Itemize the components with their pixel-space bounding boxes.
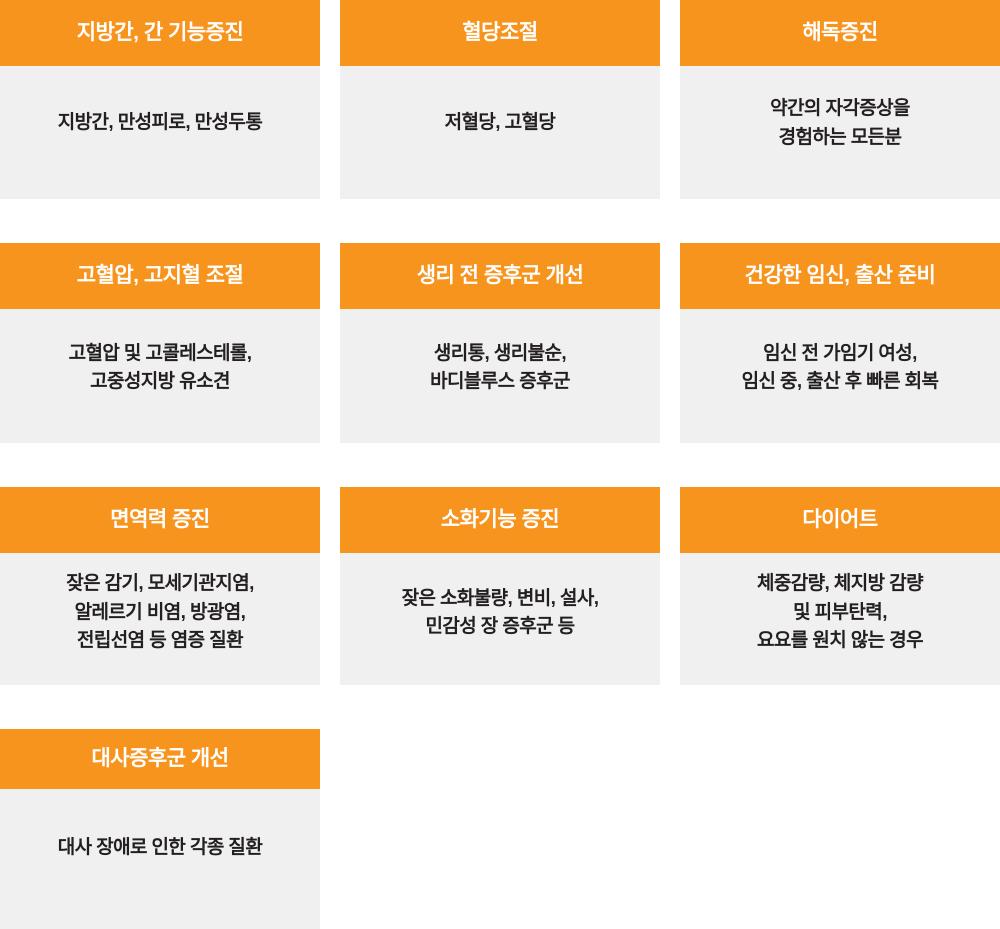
benefit-card-title: 혈당조절 <box>340 0 660 66</box>
benefit-card-body-text: 체중감량, 체지방 감량 및 피부탄력, 요요를 원치 않는 경우 <box>690 570 990 656</box>
benefit-card[interactable]: 다이어트 체중감량, 체지방 감량 및 피부탄력, 요요를 원치 않는 경우 <box>680 487 1000 685</box>
benefit-card-body: 대사 장애로 인한 각종 질환 <box>0 789 320 929</box>
benefit-card-body-text: 잦은 소화불량, 변비, 설사, 민감성 장 증후군 등 <box>350 585 650 642</box>
benefit-card[interactable]: 지방간, 간 기능증진 지방간, 만성피로, 만성두통 <box>0 0 320 199</box>
grid-empty-cell <box>340 729 660 929</box>
benefit-card[interactable]: 건강한 임신, 출산 준비 임신 전 가임기 여성, 임신 중, 출산 후 빠른… <box>680 243 1000 443</box>
benefit-card-body: 고혈압 및 고콜레스테롤, 고중성지방 유소견 <box>0 309 320 443</box>
benefit-card[interactable]: 혈당조절 저혈당, 고혈당 <box>340 0 660 199</box>
grid-empty-cell <box>680 729 1000 929</box>
benefit-card-body-text: 고혈압 및 고콜레스테롤, 고중성지방 유소견 <box>10 340 310 397</box>
benefit-card-body: 잦은 감기, 모세기관지염, 알레르기 비염, 방광염, 전립선염 등 염증 질… <box>0 553 320 685</box>
benefit-card-title: 고혈압, 고지혈 조절 <box>0 243 320 309</box>
benefit-card-title: 지방간, 간 기능증진 <box>0 0 320 66</box>
benefit-card-title: 소화기능 증진 <box>340 487 660 553</box>
benefit-card-title: 면역력 증진 <box>0 487 320 553</box>
benefit-card-title: 다이어트 <box>680 487 1000 553</box>
benefit-card-body: 저혈당, 고혈당 <box>340 66 660 199</box>
benefit-card-body-text: 약간의 자각증상을 경험하는 모든분 <box>690 95 990 152</box>
benefit-card-title: 대사증후군 개선 <box>0 729 320 789</box>
benefit-card-body: 체중감량, 체지방 감량 및 피부탄력, 요요를 원치 않는 경우 <box>680 553 1000 685</box>
benefit-card-body: 생리통, 생리불순, 바디블루스 증후군 <box>340 309 660 443</box>
benefit-card[interactable]: 면역력 증진 잦은 감기, 모세기관지염, 알레르기 비염, 방광염, 전립선염… <box>0 487 320 685</box>
benefit-card[interactable]: 고혈압, 고지혈 조절 고혈압 및 고콜레스테롤, 고중성지방 유소견 <box>0 243 320 443</box>
benefit-card-body-text: 잦은 감기, 모세기관지염, 알레르기 비염, 방광염, 전립선염 등 염증 질… <box>10 570 310 656</box>
benefit-card-title: 건강한 임신, 출산 준비 <box>680 243 1000 309</box>
benefit-card-body-text: 대사 장애로 인한 각종 질환 <box>10 834 310 863</box>
benefit-card-body-text: 임신 전 가임기 여성, 임신 중, 출산 후 빠른 회복 <box>690 340 990 397</box>
benefit-card[interactable]: 생리 전 증후군 개선 생리통, 생리불순, 바디블루스 증후군 <box>340 243 660 443</box>
benefit-card-body: 임신 전 가임기 여성, 임신 중, 출산 후 빠른 회복 <box>680 309 1000 443</box>
benefit-card[interactable]: 대사증후군 개선 대사 장애로 인한 각종 질환 <box>0 729 320 929</box>
benefit-card[interactable]: 해독증진 약간의 자각증상을 경험하는 모든분 <box>680 0 1000 199</box>
benefit-card-body: 지방간, 만성피로, 만성두통 <box>0 66 320 199</box>
benefit-card-title: 해독증진 <box>680 0 1000 66</box>
benefit-card-body-text: 저혈당, 고혈당 <box>350 109 650 138</box>
benefit-card-title: 생리 전 증후군 개선 <box>340 243 660 309</box>
benefit-card-body-text: 생리통, 생리불순, 바디블루스 증후군 <box>350 340 650 397</box>
benefit-card-body: 약간의 자각증상을 경험하는 모든분 <box>680 66 1000 199</box>
benefit-card[interactable]: 소화기능 증진 잦은 소화불량, 변비, 설사, 민감성 장 증후군 등 <box>340 487 660 685</box>
benefit-card-body: 잦은 소화불량, 변비, 설사, 민감성 장 증후군 등 <box>340 553 660 685</box>
benefit-card-grid: 지방간, 간 기능증진 지방간, 만성피로, 만성두통 혈당조절 저혈당, 고혈… <box>0 0 1000 928</box>
benefit-card-body-text: 지방간, 만성피로, 만성두통 <box>10 109 310 138</box>
